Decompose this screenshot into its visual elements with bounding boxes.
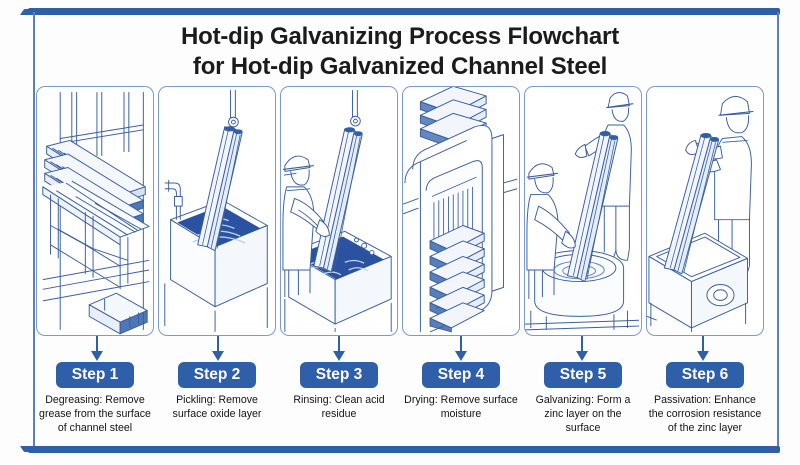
passivation-tank-worker-illustration [647,87,763,335]
connector-arrow-6 [697,336,709,361]
panel-step-2 [158,86,276,336]
connector-arrow-2 [212,336,224,361]
top-decorative-bar [28,8,780,15]
step-caption-6: Passivation: Enhance the corrosion resis… [646,394,764,436]
connector-arrow-5 [576,336,588,361]
flowchart-page: Hot-dip Galvanizing Process Flowchart fo… [0,0,800,465]
step-5: Step 5 Galvanizing: Form a zinc layer on… [524,362,642,452]
step-6: Step 6 Passivation: Enhance the corrosio… [646,362,764,452]
title-line-2: for Hot-dip Galvanized Channel Steel [0,52,800,82]
panel-step-5 [524,86,642,336]
step-caption-5: Galvanizing: Form a zinc layer on the su… [524,394,642,436]
step-badge-2[interactable]: Step 2 [178,362,257,388]
step-badge-4[interactable]: Step 4 [422,362,501,388]
connector-arrow-3 [333,336,345,361]
channel-steel-rack-illustration [37,87,153,335]
step-badge-5[interactable]: Step 5 [544,362,623,388]
panel-step-4 [402,86,520,336]
panel-step-3 [280,86,398,336]
illustration-panels [36,86,764,336]
step-caption-3: Rinsing: Clean acid residue [280,394,398,422]
step-badge-6[interactable]: Step 6 [666,362,745,388]
rinsing-tank-worker-illustration [281,87,397,335]
step-3: Step 3 Rinsing: Clean acid residue [280,362,398,452]
drying-oven-illustration [403,87,519,335]
connector-arrow-1 [91,336,103,361]
zinc-kettle-two-workers-illustration [525,87,641,335]
pickling-tank-illustration [159,87,275,335]
step-badge-3[interactable]: Step 3 [300,362,379,388]
step-2: Step 2 Pickling: Remove surface oxide la… [158,362,276,452]
step-caption-2: Pickling: Remove surface oxide layer [158,394,276,422]
step-1: Step 1 Degreasing: Remove grease from th… [36,362,154,452]
connector-arrows [36,336,764,364]
connector-arrow-4 [455,336,467,361]
step-4: Step 4 Drying: Remove surface moisture [402,362,520,452]
step-badge-1[interactable]: Step 1 [56,362,135,388]
title-line-1: Hot-dip Galvanizing Process Flowchart [181,23,619,50]
step-caption-4: Drying: Remove surface moisture [402,394,520,422]
panel-step-6 [646,86,764,336]
panel-step-1 [36,86,154,336]
steps-row: Step 1 Degreasing: Remove grease from th… [36,362,764,452]
page-title: Hot-dip Galvanizing Process Flowchart fo… [0,22,800,82]
step-caption-1: Degreasing: Remove grease from the surfa… [36,394,154,436]
